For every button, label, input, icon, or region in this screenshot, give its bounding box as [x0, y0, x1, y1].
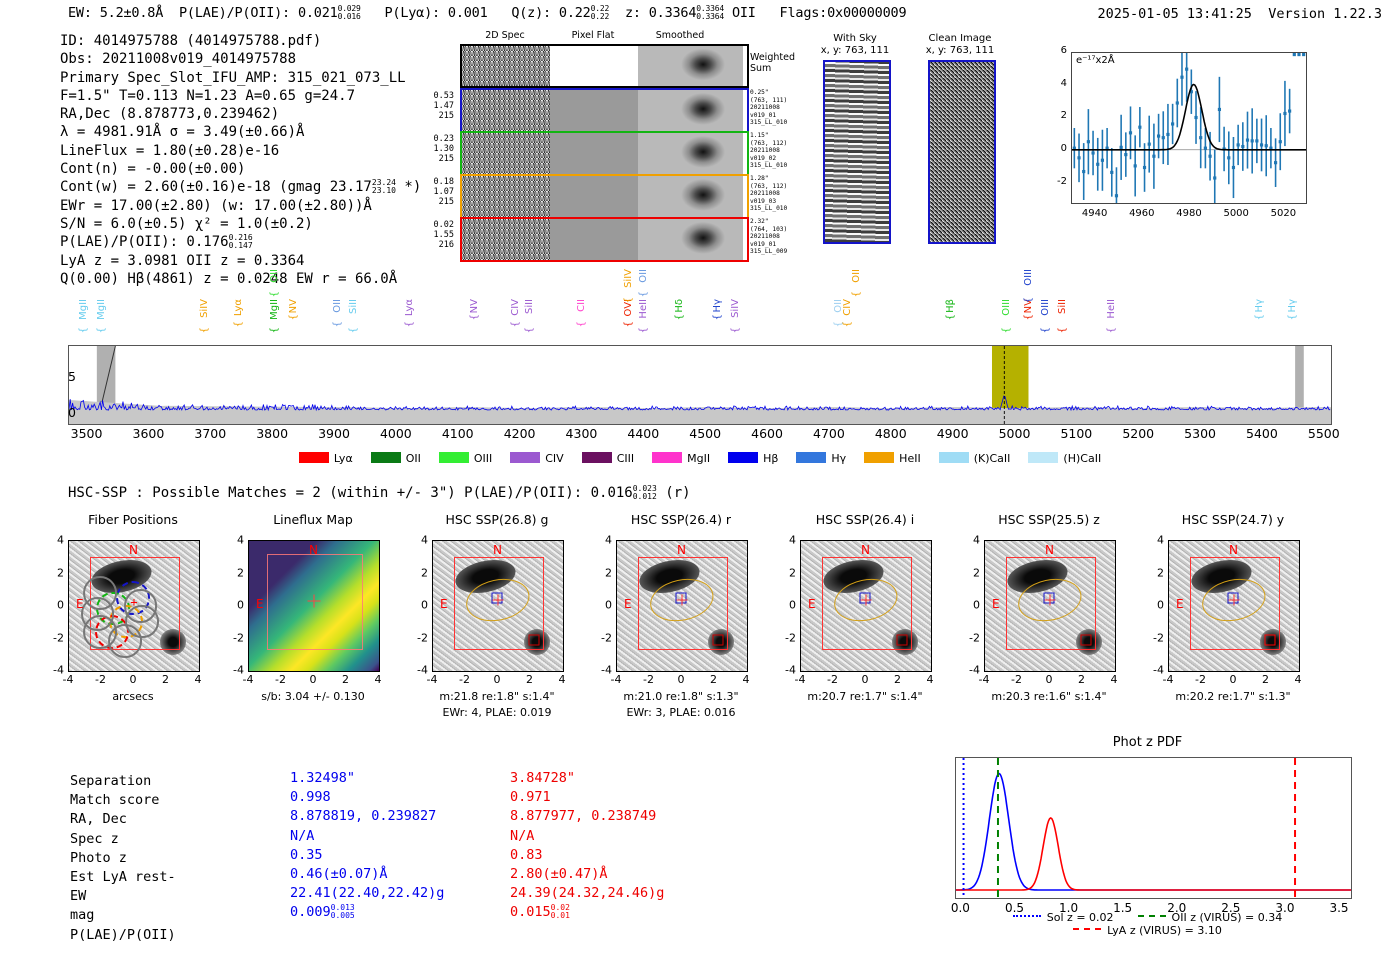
match-plae-errors: 0.0130.005 [331, 904, 355, 920]
cutout-title: HSC SSP(24.7) y [1148, 512, 1318, 527]
full-spectrum-chart: e⁻¹⁷x2Å [68, 345, 1332, 425]
match-table-row-labels: Separation Match score RA, Dec Spec z Ph… [70, 772, 176, 945]
legend-item: MgII [652, 452, 710, 465]
header-plae-value: 0.021 [298, 5, 338, 21]
fiber-id-line: v019_03 [750, 198, 810, 206]
cutout-x-tick: 2 [1078, 673, 1085, 686]
spectrum-x-tick: 3500 [71, 426, 103, 441]
spectrum-x-tick: 5400 [1246, 426, 1278, 441]
cutout-y-tick: -2 [778, 631, 796, 644]
x-tick: 4960 [1129, 208, 1154, 219]
spectrum-x-tick: 4100 [442, 426, 474, 441]
spectrum-line-brace: { [78, 327, 89, 333]
cutout-subtitle: m:20.2 re:1.7" s:1.3" [1144, 690, 1322, 703]
fiber-metric: 1.47 [412, 101, 454, 111]
emission-plot-frame: e⁻¹⁷x2Å [1071, 52, 1307, 204]
cutout-x-tick: -2 [95, 673, 106, 686]
cutout-x-tick: -2 [1195, 673, 1206, 686]
spectrum-line-brace: { [1254, 314, 1265, 320]
cutout-subtitle: s/b: 3.04 +/- 0.130 [224, 690, 402, 703]
legend-item: Lyα [299, 452, 353, 465]
spectrum-line-label: MgII [269, 299, 280, 320]
fiber-id-line: 1.28" [750, 175, 810, 183]
info-line: λ = 4981.91Å σ = 3.49(±0.66)Å [60, 123, 421, 141]
phot-z-legend-item: OII z (VIRUS) = 0.34 [1138, 911, 1283, 924]
spectrum-line-brace: { [712, 314, 723, 320]
spectrum-line-brace: { [469, 314, 480, 320]
match-value: N/A [290, 827, 444, 846]
compass-north: N [677, 543, 686, 557]
y-tick: 4 [1049, 78, 1067, 89]
info-line: S/N = 6.0(±0.5) χ² = 1.0(±0.2) [60, 215, 421, 233]
legend-item: OIII [439, 452, 492, 465]
legend-label: CIII [617, 452, 634, 465]
spectrum-line-label: OII [332, 299, 343, 313]
compass-north: N [861, 543, 870, 557]
with-sky-title: With Sky x, y: 763, 111 [800, 33, 910, 57]
spectrum-line-brace: { [1057, 327, 1068, 333]
spectrum-x-tick: 5500 [1308, 426, 1340, 441]
cutout-y-tick: 4 [226, 534, 244, 547]
fiber-row-id: 1.28"(763, 112)20211008v019_03315_LL_010 [750, 175, 810, 213]
phot-z-svg [956, 758, 1351, 898]
emission-line-fit-chart: e⁻¹⁷x2Å 49404960498050005020-20246 [1037, 48, 1309, 230]
spectrum-x-axis: 3500360037003800390040004100420043004400… [68, 426, 1330, 446]
cutout-x-tick: 4 [743, 673, 750, 686]
compass-north: N [493, 543, 502, 557]
fiber-id-line: 1.15" [750, 132, 810, 140]
cutout-subtitle-2: EWr: 4, PLAE: 0.019 [408, 706, 586, 719]
cutout-x-tick: 2 [710, 673, 717, 686]
legend-item: CIV [510, 452, 563, 465]
phot-z-legend: Sol z = 0.02OII z (VIRUS) = 0.34LyA z (V… [935, 911, 1360, 937]
legend-label: OIII [474, 452, 492, 465]
cutout-x-tick: 0 [862, 673, 869, 686]
cutout-title: HSC SSP(26.4) i [780, 512, 950, 527]
match-value: 1.32498" [290, 769, 444, 788]
cutout-y-tick: -4 [594, 664, 612, 677]
spectrum-line-brace: { [842, 321, 853, 327]
fiber-id-line: 315_LL_010 [750, 162, 810, 170]
cutout-image[interactable] [800, 540, 932, 672]
fiber-row-id: 2.32"(764, 103)20211008v019_01315_LL_009 [750, 218, 810, 256]
spectrum-line-label: OII [638, 269, 649, 283]
spectrum-x-tick: 5300 [1184, 426, 1216, 441]
cutout-x-tick: 2 [1262, 673, 1269, 686]
match-value: 3.84728" [510, 769, 664, 788]
fiber-row [460, 217, 749, 262]
cutout-row: Fiber Positions+NE-4-4-2-2002244arcsecsL… [0, 512, 1400, 727]
cutout-image[interactable] [248, 540, 380, 672]
cutout-y-tick: 0 [962, 599, 980, 612]
fiber-row-id: 1.15"(763, 112)20211008v019_02315_LL_010 [750, 132, 810, 170]
cutout-x-tick: -2 [459, 673, 470, 686]
spectrum-line-brace: { [1023, 297, 1034, 303]
fiber-id-line: (764, 103) [750, 226, 810, 234]
cutout-x-tick: 4 [1295, 673, 1302, 686]
phot-z-legend-swatch [1073, 928, 1101, 930]
spectrum-line-label: Hβ [945, 299, 956, 313]
cutout-x-tick: -4 [427, 673, 438, 686]
cutout-x-tick: 2 [526, 673, 533, 686]
spectrum-x-tick: 4600 [751, 426, 783, 441]
cutout-title: HSC SSP(26.8) g [412, 512, 582, 527]
cutout-subtitle: m:21.0 re:1.8" s:1.3" [592, 690, 770, 703]
info-line: LyA z = 3.0981 OII z = 0.3364 [60, 252, 421, 270]
clean-image [928, 60, 996, 244]
compass-east: E [808, 597, 816, 611]
cutout-y-tick: -4 [410, 664, 428, 677]
phot-z-legend-item: Sol z = 0.02 [1013, 911, 1114, 924]
match-value: 2.80(±0.47)Å [510, 865, 664, 884]
cutout-y-tick: -4 [778, 664, 796, 677]
cutout-x-tick: 4 [1111, 673, 1118, 686]
cutout-x-tick: -4 [63, 673, 74, 686]
header-summary: EW: 5.2±0.8Å P(LAE)/P(OII): 0.0210.0290.… [68, 5, 906, 21]
spectrum-line-label: Lyα [233, 299, 244, 316]
legend-swatch [728, 452, 758, 463]
cutout-x-tick: 2 [342, 673, 349, 686]
legend-item: Hγ [796, 452, 846, 465]
spectrum-line-brace: { [288, 314, 299, 320]
fiber-metric: 0.23 [412, 134, 454, 144]
table-row: Est LyA rest-EW [70, 868, 176, 906]
spectrum-x-tick: 4700 [813, 426, 845, 441]
legend-label: Lyα [334, 452, 353, 465]
cutout-subtitle: m:21.8 re:1.8" s:1.4" [408, 690, 586, 703]
spectrum-line-brace: { [623, 321, 634, 327]
legend-swatch [652, 452, 682, 463]
cutout-title: Lineflux Map [228, 512, 398, 527]
spectrum-line-brace: { [1023, 314, 1034, 320]
legend-swatch [1028, 452, 1058, 463]
compass-east: E [624, 597, 632, 611]
legend-label: Hβ [763, 452, 778, 465]
cutout-image[interactable] [1168, 540, 1300, 672]
phot-z-pdf-chart: Phot z PDF 0.00.51.01.52.02.53.03.5 Sol … [935, 735, 1360, 935]
spectrum-line-label: SiII [524, 299, 535, 314]
cutout-y-tick: 4 [594, 534, 612, 547]
spectrum-y-tick: 0 [58, 405, 76, 420]
spectrum-x-tick: 4200 [504, 426, 536, 441]
info-line: Obs: 20211008v019_4014975788 [60, 50, 421, 68]
weighted-sum-row [460, 44, 749, 88]
match-value: 8.877977, 0.238749 [510, 807, 664, 826]
cutout-y-tick: 2 [46, 566, 64, 579]
legend-swatch [939, 452, 969, 463]
fiber-metric: 0.18 [412, 177, 454, 187]
match-plae: 0.0150.020.01 [510, 903, 664, 922]
legend-label: OII [406, 452, 421, 465]
fiber-row [460, 174, 749, 219]
clean-image-title: Clean Image x, y: 763, 111 [905, 33, 1015, 57]
spectrum-line-label: Hγ [1287, 299, 1298, 312]
match-value: 22.41(22.40,22.42)g [290, 884, 444, 903]
cutout-x-tick: -4 [1163, 673, 1174, 686]
fiber-id-line: (763, 112) [750, 183, 810, 191]
fiber-metric: 215 [412, 154, 454, 164]
panel-title-2dspec: 2D Spec [460, 30, 550, 41]
y-tick: -2 [1049, 176, 1067, 187]
cutout-x-tick: -2 [275, 673, 286, 686]
spectrum-x-tick: 4900 [937, 426, 969, 441]
legend-swatch [582, 452, 612, 463]
cutout-y-tick: 2 [226, 566, 244, 579]
x-tick: 5000 [1223, 208, 1248, 219]
spectrum-y-ticks: 05 [40, 345, 64, 423]
spectrum-line-label: MgII [96, 299, 107, 320]
cutout-y-tick: 0 [46, 599, 64, 612]
spectrum-line-label: Hγ [712, 299, 723, 312]
spectrum-line-label: SiIV [623, 269, 634, 288]
cutout-y-tick: 0 [410, 599, 428, 612]
match-value: 8.878819, 0.239827 [290, 807, 444, 826]
spectrum-x-tick: 4300 [566, 426, 598, 441]
spectrum-x-tick: 5200 [1122, 426, 1154, 441]
fiber-id-line: 2.32" [750, 218, 810, 226]
fiber-row [460, 131, 749, 176]
cutout-y-tick: -4 [962, 664, 980, 677]
cutout-y-tick: 2 [410, 566, 428, 579]
compass-east: E [992, 597, 1000, 611]
match-2-column: 3.84728"0.9718.877977, 0.238749N/A0.832.… [510, 769, 664, 923]
phot-z-title: Phot z PDF [935, 735, 1360, 750]
match-plae: 0.0090.0130.005 [290, 903, 444, 922]
cutout-y-tick: 2 [962, 566, 980, 579]
cutout-image[interactable]: + [68, 540, 200, 672]
cutout-x-tick: 0 [130, 673, 137, 686]
compass-east: E [76, 597, 84, 611]
spectrum-line-labels: MgII{MgII{SiIV{Lyα{MgII{OII{NV{OII{SiII{… [0, 275, 1400, 345]
spectrum-line-label: SiII [1057, 299, 1068, 314]
cutout-x-tick: -2 [1011, 673, 1022, 686]
spectrum-line-label: SiII [348, 299, 359, 314]
cutout-image[interactable] [432, 540, 564, 672]
fiber-metric: 215 [412, 197, 454, 207]
info-plae: P(LAE)/P(OII): 0.1760.2160.147 [60, 233, 421, 251]
header-z-errors: 0.33640.3364 [696, 5, 724, 21]
fiber-id-line: 20211008 [750, 233, 810, 241]
compass-north: N [1229, 543, 1238, 557]
cutout-y-tick: 0 [778, 599, 796, 612]
info-line: ID: 4014975788 (4014975788.pdf) [60, 32, 421, 50]
table-row: mag [70, 906, 176, 925]
legend-label: MgII [687, 452, 710, 465]
cutout-x-tick: 0 [1230, 673, 1237, 686]
compass-east: E [1176, 597, 1184, 611]
spectrum-line-label: OIII [1023, 269, 1034, 286]
spectrum-line-label: OII [269, 269, 280, 283]
phot-z-legend-label: Sol z = 0.02 [1047, 911, 1114, 924]
table-row: Match score [70, 791, 176, 810]
cutout-subtitle: m:20.7 re:1.7" s:1.4" [776, 690, 954, 703]
info-line: LineFlux = 1.80(±0.28)e-16 [60, 142, 421, 160]
phot-z-legend-label: LyA z (VIRUS) = 3.10 [1107, 924, 1222, 937]
spectrum-line-brace: { [623, 297, 634, 303]
compass-north: N [309, 543, 318, 557]
cutout-y-tick: 4 [46, 534, 64, 547]
spectrum-line-label: CII [576, 299, 587, 312]
fiber-metric: 1.55 [412, 230, 454, 240]
header-plae-label: P(LAE)/P(OII): [179, 5, 290, 21]
spectrum-line-brace: { [576, 321, 587, 327]
fiber-id-line: 0.25" [750, 89, 810, 97]
cutout-y-tick: 4 [778, 534, 796, 547]
table-row: RA, Dec [70, 810, 176, 829]
spectrum-line-brace: { [348, 327, 359, 333]
spectrum-line-brace: { [269, 327, 280, 333]
fiber-id-line: 315_LL_010 [750, 205, 810, 213]
cutout-x-tick: 4 [927, 673, 934, 686]
header-meta: 2025-01-05 13:41:25 Version 1.22.3 [1098, 6, 1383, 22]
legend-item: OII [371, 452, 421, 465]
phot-z-legend-item: LyA z (VIRUS) = 3.10 [1073, 924, 1222, 937]
cutout-y-tick: -2 [226, 631, 244, 644]
legend-swatch [864, 452, 894, 463]
compass-north: N [129, 543, 138, 557]
spectrum-line-brace: { [851, 291, 862, 297]
cutout-y-tick: -2 [962, 631, 980, 644]
legend-item: Hβ [728, 452, 778, 465]
spectrum-line-label: HeII [1106, 299, 1117, 319]
cutout-y-tick: -4 [1146, 664, 1164, 677]
header-z-type: OII [732, 5, 756, 21]
spectrum-line-label: Hδ [674, 299, 685, 313]
table-row: Separation [70, 772, 176, 791]
phot-z-legend-swatch [1138, 915, 1166, 917]
fiber-metric: 216 [412, 240, 454, 250]
spectrum-line-brace: { [199, 327, 210, 333]
spectrum-line-brace: { [96, 327, 107, 333]
cutout-subtitle: arcsecs [44, 690, 222, 703]
legend-label: (H)CaII [1063, 452, 1101, 465]
with-sky-image [823, 60, 891, 244]
timestamp: 2025-01-05 13:41:25 [1098, 6, 1252, 22]
spectrum-line-brace: { [730, 327, 741, 333]
cutout-y-tick: -2 [410, 631, 428, 644]
emission-plot-svg [1072, 53, 1306, 203]
x-tick: 4980 [1176, 208, 1201, 219]
info-cont-w: Cont(w) = 2.60(±0.16)e-18 (gmag 23.1723.… [60, 178, 421, 196]
phot-z-legend-swatch [1013, 915, 1041, 917]
spectrum-x-tick: 3800 [256, 426, 288, 441]
cutout-x-tick: -2 [643, 673, 654, 686]
x-tick: 4940 [1082, 208, 1107, 219]
cutout-y-tick: 2 [1146, 566, 1164, 579]
cutout-x-tick: -4 [611, 673, 622, 686]
match-value: 0.998 [290, 788, 444, 807]
spectrum-line-brace: { [269, 291, 280, 297]
table-row: Spec z [70, 830, 176, 849]
fiber-metric: 1.30 [412, 144, 454, 154]
match-value: 0.971 [510, 788, 664, 807]
y-tick: 2 [1049, 110, 1067, 121]
fiber-metric: 0.53 [412, 91, 454, 101]
fiber-row-metrics: 0.021.55216 [412, 220, 454, 250]
cutout-title: HSC SSP(25.5) z [964, 512, 1134, 527]
info-line: F=1.5" T=0.113 N=1.23 A=0.65 g=24.7 [60, 87, 421, 105]
spectrum-line-label: CIV [842, 299, 853, 316]
fiber-id-line: v019_01 [750, 241, 810, 249]
spectrum-x-tick: 3900 [318, 426, 350, 441]
table-row: P(LAE)/P(OII) [70, 926, 176, 945]
cutout-x-tick: -4 [979, 673, 990, 686]
cutout-x-tick: 0 [1046, 673, 1053, 686]
fiber-metric: 215 [412, 111, 454, 121]
hsc-plae-errors: 0.0230.012 [633, 485, 657, 501]
match-value: 0.35 [290, 846, 444, 865]
cutout-x-tick: 4 [559, 673, 566, 686]
fiber-row-metrics: 0.531.47215 [412, 91, 454, 121]
cutout-x-tick: 4 [375, 673, 382, 686]
spectrum-line-label: CIV [510, 299, 521, 316]
phot-z-frame [955, 757, 1352, 899]
spectrum-line-brace: { [945, 314, 956, 320]
cutout-x-tick: -2 [827, 673, 838, 686]
spectrum-line-label: OIII [1001, 299, 1012, 316]
cutout-y-tick: -2 [1146, 631, 1164, 644]
legend-swatch [510, 452, 540, 463]
2d-spectra-panel: 2D Spec Pixel Flat Smoothed Weighted Sum… [420, 30, 760, 260]
fiber-id-line: 20211008 [750, 104, 810, 112]
cutout-x-tick: -4 [243, 673, 254, 686]
cutout-y-tick: 2 [778, 566, 796, 579]
header-qz-errors: 0.220.22 [591, 5, 609, 21]
cutout-x-tick: 0 [678, 673, 685, 686]
cutout-x-tick: 0 [494, 673, 501, 686]
cutout-image[interactable] [984, 540, 1116, 672]
spectrum-line-label: SiIV [199, 299, 210, 318]
spectrum-line-label: NV [469, 299, 480, 313]
spectrum-line-brace: { [1287, 314, 1298, 320]
cont-w-errors: 23.2423.10 [372, 179, 396, 195]
spectrum-line-label: OII [851, 269, 862, 283]
spectrum-line-label: SiIV [730, 299, 741, 318]
match-plae-errors: 0.020.01 [551, 904, 570, 920]
cutout-y-tick: 4 [1146, 534, 1164, 547]
cutout-title: Fiber Positions [48, 512, 218, 527]
spectrum-line-brace: { [510, 321, 521, 327]
spectrum-x-tick: 5000 [999, 426, 1031, 441]
match-value: N/A [510, 827, 664, 846]
header-z: z: 0.3364 [625, 5, 696, 21]
spectrum-x-tick: 4800 [875, 426, 907, 441]
cutout-y-tick: -4 [226, 664, 244, 677]
spectrum-line-brace: { [233, 321, 244, 327]
info-line: RA,Dec (8.878773,0.239462) [60, 105, 421, 123]
spectrum-line-brace: { [1001, 327, 1012, 333]
cutout-x-tick: 4 [195, 673, 202, 686]
compass-north: N [1045, 543, 1054, 557]
cutout-x-tick: 0 [310, 673, 317, 686]
cutout-y-tick: 2 [594, 566, 612, 579]
spectrum-x-tick: 4000 [380, 426, 412, 441]
fiber-metric: 1.07 [412, 187, 454, 197]
spectrum-line-brace: { [524, 327, 535, 333]
legend-item: (H)CaII [1028, 452, 1101, 465]
fiber-id-line: v019_01 [750, 112, 810, 120]
cutout-image[interactable] [616, 540, 748, 672]
info-plae-errors: 0.2160.147 [229, 234, 253, 250]
info-line: Primary Spec_Slot_IFU_AMP: 315_021_073_L… [60, 69, 421, 87]
spectrum-line-label: MgII [78, 299, 89, 320]
info-line: EWr = 17.00(±2.80) (w: 17.00(±2.80))Å [60, 197, 421, 215]
cutout-y-tick: 0 [1146, 599, 1164, 612]
hsc-headline: HSC-SSP : Possible Matches = 2 (within +… [68, 485, 691, 501]
legend-label: HeII [899, 452, 921, 465]
cutout-subtitle-2: EWr: 3, PLAE: 0.016 [592, 706, 770, 719]
spectrum-line-label: OIII [1040, 299, 1051, 316]
